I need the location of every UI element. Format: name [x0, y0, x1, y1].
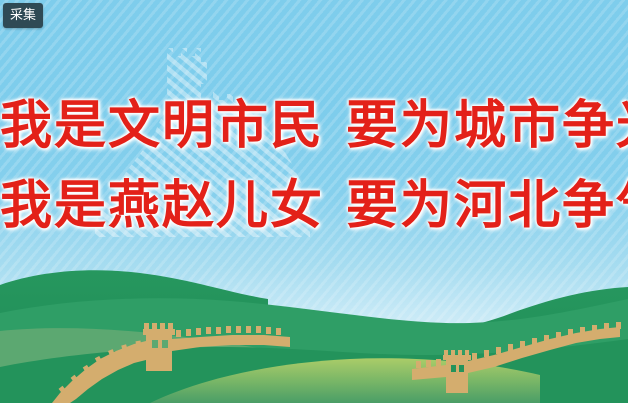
- slogan-line-2: 我是燕赵儿女要为河北争气: [0, 180, 628, 232]
- capture-button[interactable]: 采集: [3, 3, 43, 28]
- great-wall-tower-left: [143, 323, 175, 371]
- slogan-line1-part1: 我是文明市民: [0, 96, 324, 156]
- slogan-line-1: 我是文明市民要为城市争光: [0, 100, 628, 152]
- slogan-line2-part2: 要为河北争气: [346, 176, 628, 236]
- hills-landscape: [0, 243, 628, 403]
- poster-banner: 我是文明市民要为城市争光 我是燕赵儿女要为河北争气: [0, 0, 628, 403]
- slogan-line2-part1: 我是燕赵儿女: [0, 176, 324, 236]
- great-wall-tower-right: [443, 350, 471, 393]
- slogan-line1-part2: 要为城市争光: [346, 96, 628, 156]
